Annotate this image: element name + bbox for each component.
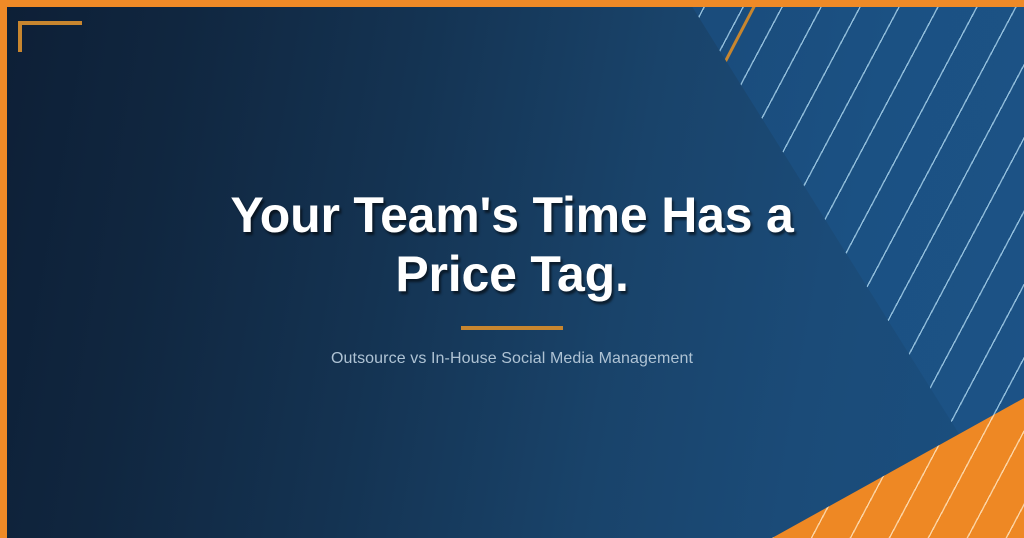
- slide-title: Your Team's Time Has a Price Tag.: [52, 186, 972, 304]
- slide-subtitle: Outsource vs In-House Social Media Manag…: [331, 350, 693, 368]
- title-divider: [461, 326, 563, 330]
- slide-content: Your Team's Time Has a Price Tag. Outsou…: [0, 0, 1024, 538]
- presentation-slide: Your Team's Time Has a Price Tag. Outsou…: [0, 0, 1024, 538]
